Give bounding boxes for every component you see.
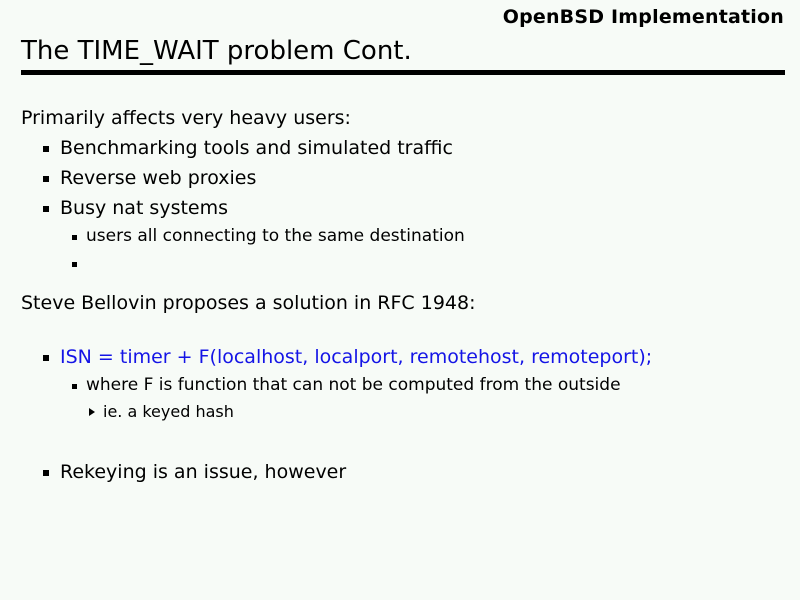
bullet-item-level-3: ie. a keyed hash — [89, 399, 800, 425]
slide-header-label: OpenBSD Implementation — [503, 6, 784, 28]
title-divider — [21, 70, 785, 75]
slide-body: Primarily affects very heavy users:Bench… — [0, 104, 800, 487]
bullet-item-level-1: Benchmarking tools and simulated traffic — [43, 133, 800, 163]
bullet-item-level-1: Rekeying is an issue, however — [43, 457, 800, 487]
bullet-item-level-1: ISN = timer + F(localhost, localport, re… — [43, 342, 800, 372]
triangle-bullet-icon — [89, 408, 95, 416]
body-spacer — [0, 318, 800, 342]
square-bullet-icon — [72, 384, 77, 389]
bullet-text: Benchmarking tools and simulated traffic — [60, 133, 453, 163]
bullet-item-level-1: Reverse web proxies — [43, 163, 800, 193]
square-bullet-icon — [43, 146, 49, 152]
square-bullet-icon — [43, 355, 49, 361]
bullet-text: ISN = timer + F(localhost, localport, re… — [60, 342, 652, 372]
body-spacer — [0, 425, 800, 457]
bullet-text: users all connecting to the same destina… — [86, 223, 465, 250]
square-bullet-icon — [72, 235, 77, 240]
bullet-text: Steve Bellovin proposes a solution in RF… — [21, 289, 476, 318]
square-bullet-icon — [72, 262, 77, 267]
bullet-item-level-1: Busy nat systems — [43, 193, 800, 223]
bullet-text: where F is function that can not be comp… — [86, 372, 621, 399]
bullet-item-level-2: where F is function that can not be comp… — [72, 372, 800, 399]
bullet-text: Reverse web proxies — [60, 163, 256, 193]
bullet-text: Busy nat systems — [60, 193, 228, 223]
slide-canvas: OpenBSD Implementation The TIME_WAIT pro… — [0, 0, 800, 600]
body-paragraph: Steve Bellovin proposes a solution in RF… — [21, 289, 800, 318]
bullet-text: ie. a keyed hash — [103, 399, 234, 425]
page-title: The TIME_WAIT problem Cont. — [21, 36, 412, 66]
bullet-text: Rekeying is an issue, however — [60, 457, 346, 487]
bullet-item-level-2 — [72, 250, 800, 277]
square-bullet-icon — [43, 206, 49, 212]
bullet-item-level-2: users all connecting to the same destina… — [72, 223, 800, 250]
square-bullet-icon — [43, 470, 49, 476]
body-paragraph: Primarily affects very heavy users: — [21, 104, 800, 133]
bullet-text: Primarily affects very heavy users: — [21, 104, 351, 133]
square-bullet-icon — [43, 176, 49, 182]
body-spacer — [0, 277, 800, 289]
